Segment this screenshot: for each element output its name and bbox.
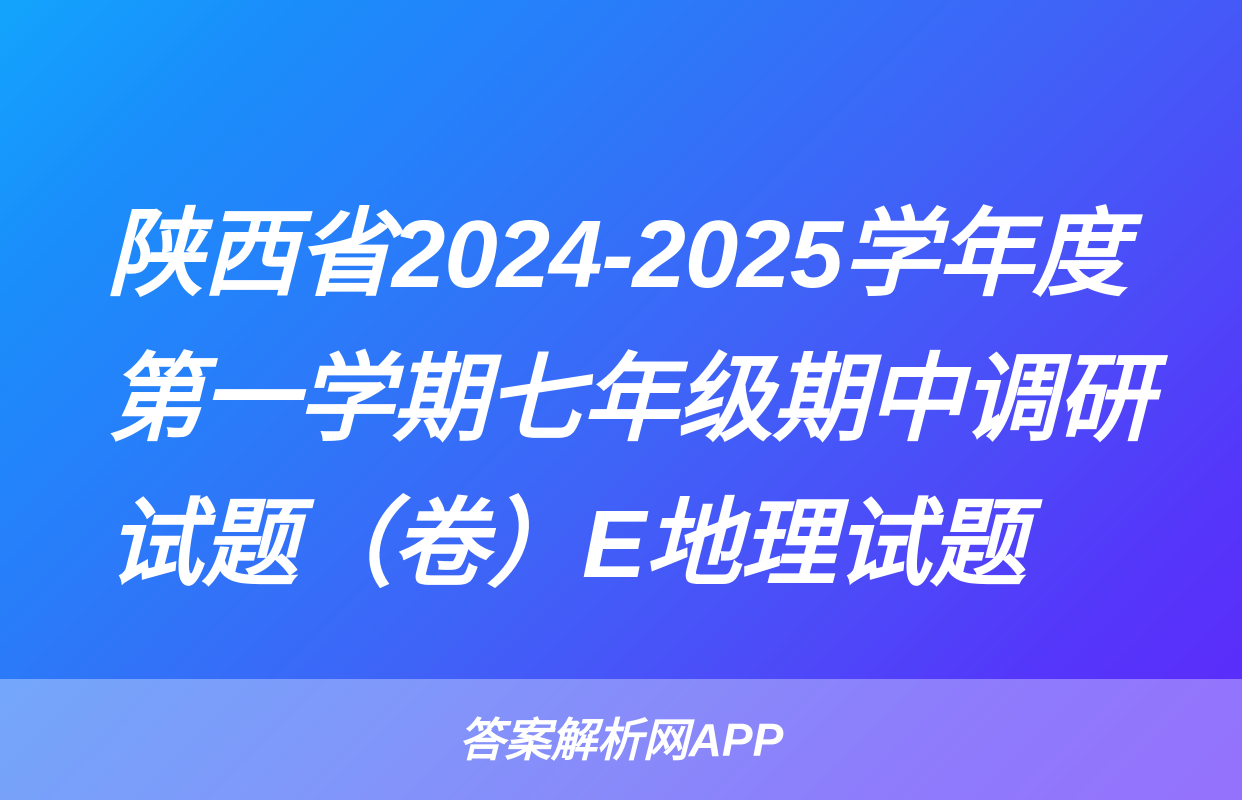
page-title: 陕西省2024-2025学年度第一学期七年级期中调研试题（卷）E地理试题 xyxy=(107,182,1152,617)
watermark-brand-text: 答案解析网APP xyxy=(459,717,784,763)
poster-canvas: 陕西省2024-2025学年度第一学期七年级期中调研试题（卷）E地理试题 答案解… xyxy=(0,0,1242,800)
watermark-band: 答案解析网APP xyxy=(0,679,1242,800)
